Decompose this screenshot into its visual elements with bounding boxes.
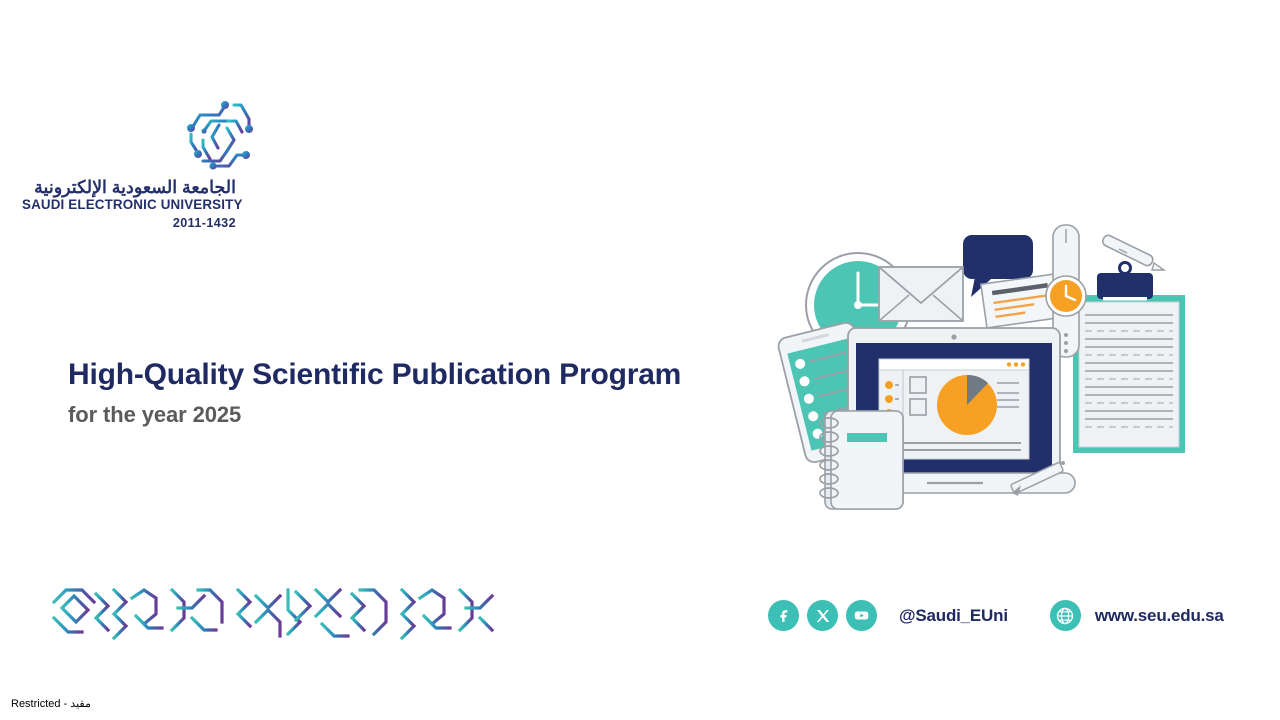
envelope-icon [879, 267, 963, 321]
illustration-svg [775, 215, 1195, 515]
seu-geometric-pattern [52, 588, 504, 645]
university-logo: الجامعة السعودية الإلكترونية SAUDI ELECT… [14, 95, 264, 231]
page-title: High-Quality Scientific Publication Prog… [68, 358, 681, 393]
facebook-icon[interactable] [768, 600, 799, 631]
logo-english-name: SAUDI ELECTRONIC UNIVERSITY [22, 197, 236, 214]
x-twitter-icon[interactable] [807, 600, 838, 631]
page-subtitle: for the year 2025 [68, 402, 681, 428]
website-url: www.seu.edu.sa [1095, 606, 1224, 626]
title-area: High-Quality Scientific Publication Prog… [68, 358, 681, 428]
logo-arabic-name: الجامعة السعودية الإلكترونية [22, 177, 236, 197]
logo-year: 2011-1432 [22, 215, 236, 231]
pattern-svg [52, 588, 504, 640]
globe-icon [1050, 600, 1081, 631]
clipboard-icon [1073, 263, 1185, 454]
slide-canvas: الجامعة السعودية الإلكترونية SAUDI ELECT… [0, 0, 1280, 720]
social-icon-group: @Saudi_EUni [768, 600, 1008, 631]
classification-label: Restricted - مقيد [11, 697, 91, 710]
spiral-notebook-icon [820, 411, 903, 509]
youtube-icon[interactable] [846, 600, 877, 631]
pen-icon [1101, 234, 1164, 270]
x-glyph [815, 608, 831, 624]
seu-hex-circuit-logo-icon [179, 95, 259, 173]
social-handle: @Saudi_EUni [899, 606, 1008, 626]
youtube-glyph [852, 606, 871, 625]
facebook-glyph [774, 606, 793, 625]
globe-glyph [1055, 606, 1075, 626]
website-group[interactable]: www.seu.edu.sa [1050, 600, 1224, 631]
footer-social-bar: @Saudi_EUni www.seu.edu.sa [768, 600, 1224, 631]
office-productivity-illustration [775, 215, 1195, 520]
